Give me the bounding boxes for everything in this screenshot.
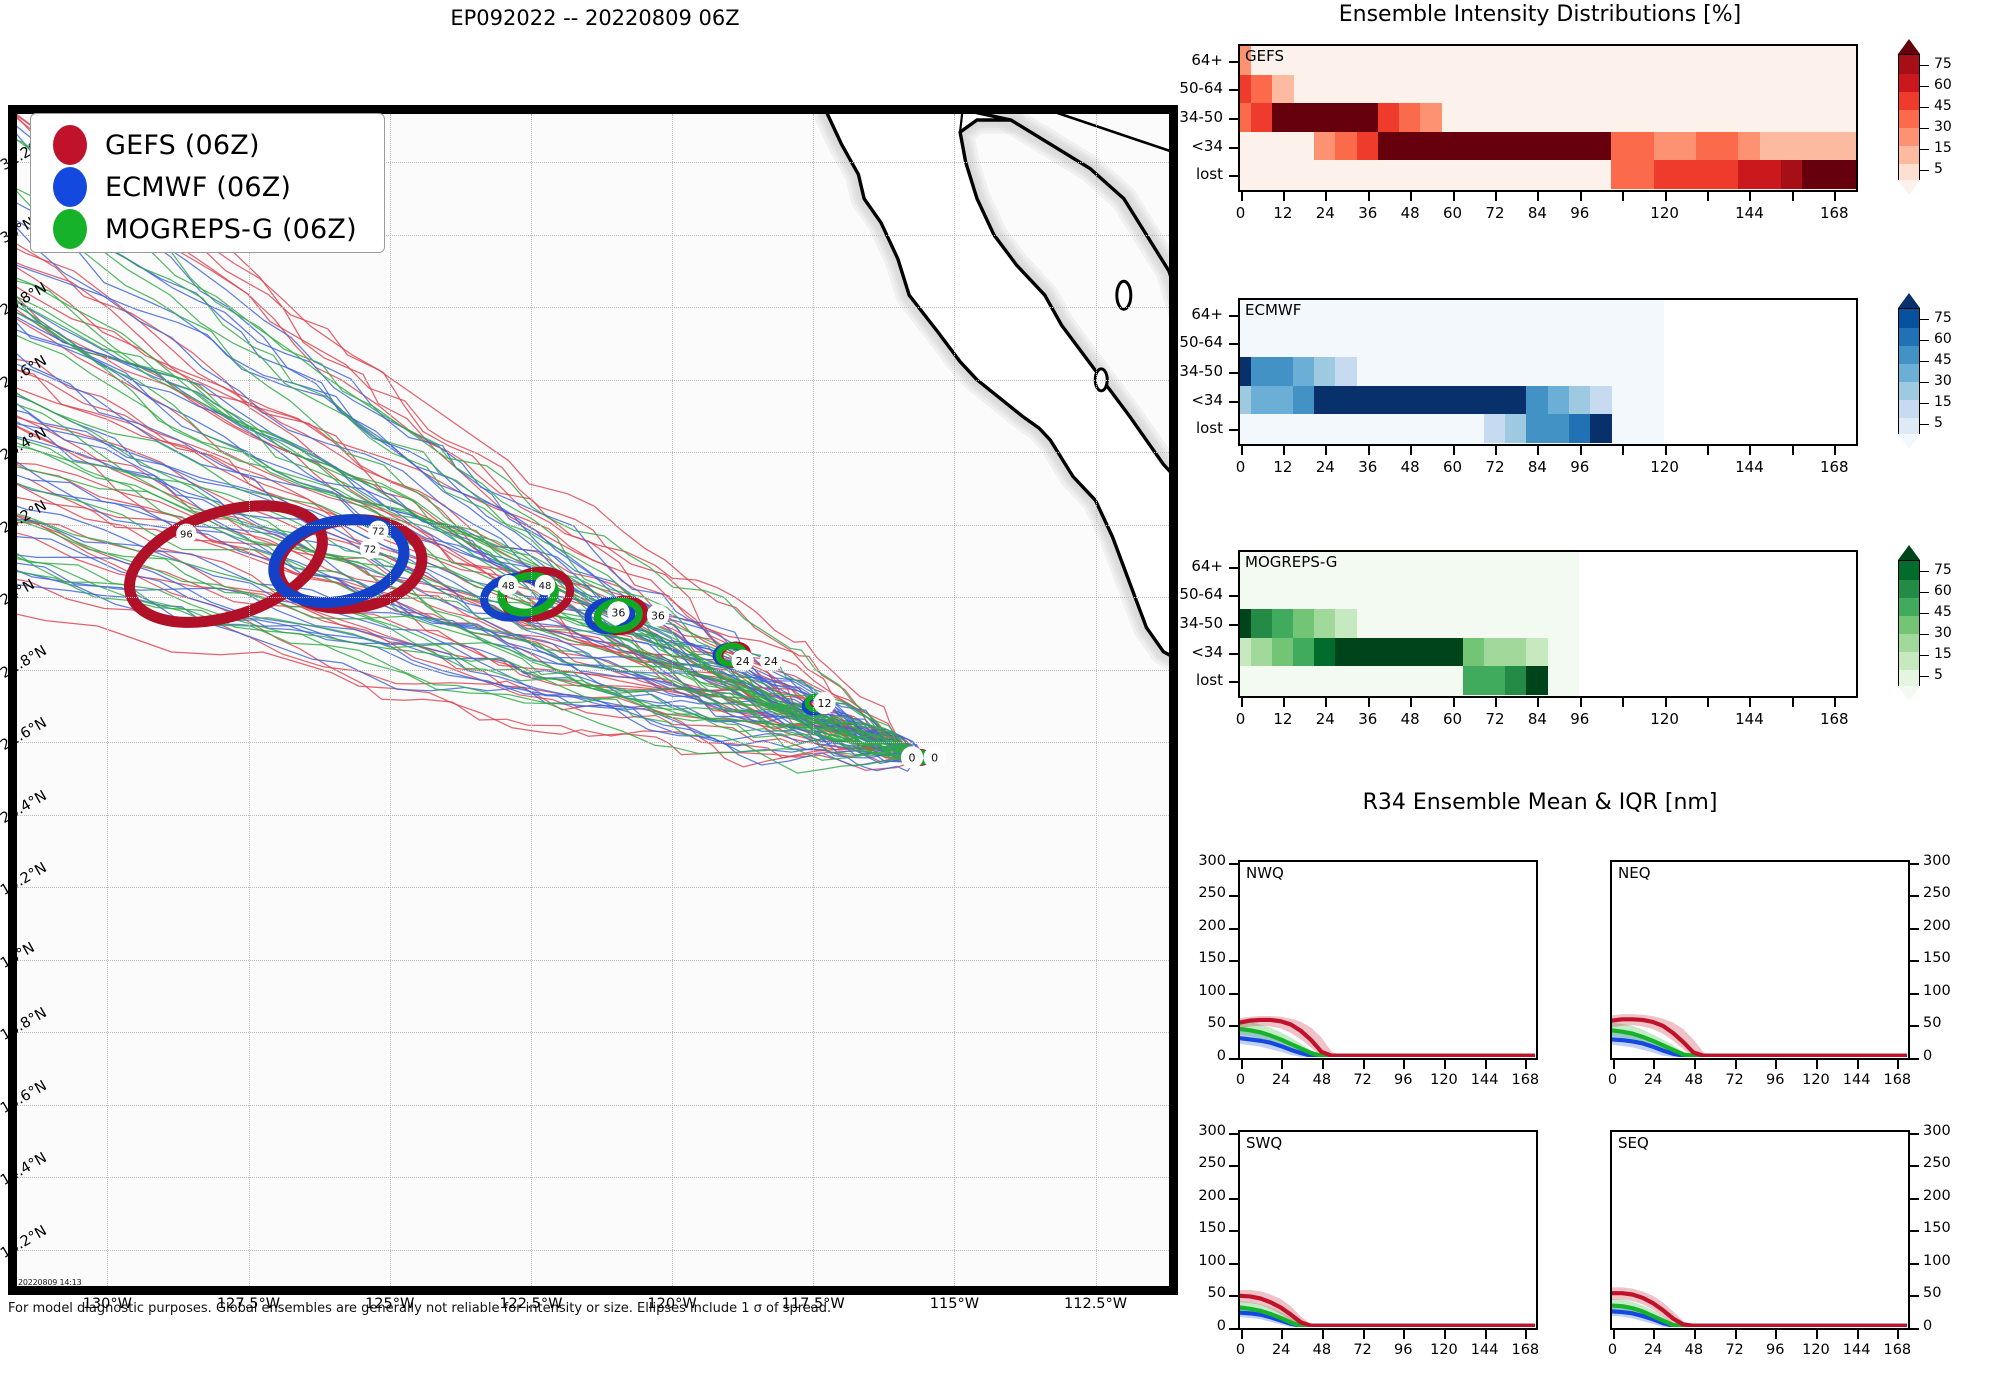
- r34-y-label: 50: [1923, 1285, 1973, 1301]
- r34-y-label: 100: [1923, 983, 1973, 999]
- r34-y-tick: [1229, 1230, 1238, 1232]
- r34-x-tick: [1694, 1060, 1696, 1069]
- heat-cell: [1823, 160, 1845, 189]
- r34-y-label: 0: [1176, 1318, 1226, 1334]
- r34-y-label: 250: [1176, 885, 1226, 901]
- r34-x-tick: [1363, 1060, 1365, 1069]
- graticule-parallel: [17, 960, 1169, 961]
- heat-cell: [1548, 132, 1570, 161]
- colorbar-band: [1899, 127, 1919, 146]
- heat-cell: [1484, 386, 1506, 415]
- x-tick: [1707, 192, 1709, 201]
- x-tick: [1495, 192, 1497, 201]
- heat-cell: [1781, 160, 1803, 189]
- svg-text:0: 0: [909, 751, 916, 764]
- legend-item-ecmwf[interactable]: ECMWF (06Z): [31, 166, 384, 208]
- heat-cell: [1675, 160, 1697, 189]
- heat-cell: [1314, 386, 1336, 415]
- colorbar-band: [1899, 669, 1919, 688]
- y-label: 34-50: [1143, 108, 1223, 126]
- heat-cell: [1251, 357, 1273, 386]
- heatmap-gefs[interactable]: GEFS: [1238, 44, 1858, 192]
- colorbar-tick-label: 5: [1934, 415, 1943, 431]
- x-tick: [1665, 446, 1667, 455]
- heat-cell: [1240, 103, 1251, 132]
- r34-panel-label: SEQ: [1618, 1134, 1649, 1152]
- heat-cell: [1717, 132, 1739, 161]
- y-tick: [1229, 429, 1238, 431]
- r34-y-tick: [1229, 960, 1238, 962]
- x-tick: [1665, 698, 1667, 707]
- r34-y-tick: [1229, 1025, 1238, 1027]
- y-tick: [1229, 147, 1238, 149]
- heat-cell: [1738, 160, 1760, 189]
- graticule-parallel: [17, 307, 1169, 308]
- heat-cell: [1251, 386, 1273, 415]
- r34-y-tick: [1910, 1263, 1919, 1265]
- colorbar-tick-label: 5: [1934, 667, 1943, 683]
- colorbar-band: [1899, 615, 1919, 634]
- heat-cell: [1590, 414, 1612, 443]
- graticule-parallel: [17, 815, 1169, 816]
- r34-x-tick: [1525, 1060, 1527, 1069]
- r34-y-label: 0: [1923, 1318, 1973, 1334]
- legend-item-mogreps[interactable]: MOGREPS-G (06Z): [31, 208, 384, 250]
- r34-panel-neq[interactable]: NEQ: [1610, 860, 1910, 1060]
- r34-x-label: 96: [1381, 1072, 1425, 1088]
- colorbar-band: [1899, 381, 1919, 400]
- x-tick: [1410, 698, 1412, 707]
- heat-cell: [1240, 638, 1251, 667]
- colorbar-tick: [1920, 86, 1929, 88]
- heatmap-ecmwf[interactable]: ECMWF: [1238, 298, 1858, 446]
- colorbar-band: [1899, 651, 1919, 670]
- y-label: lost: [1143, 165, 1223, 183]
- heat-cell: [1240, 609, 1251, 638]
- y-tick: [1229, 372, 1238, 374]
- svg-text:12: 12: [818, 697, 832, 710]
- r34-y-label: 300: [1176, 853, 1226, 869]
- colorbar-tick: [1920, 65, 1929, 67]
- map-svg: 9672724848363624241200: [17, 114, 1169, 1286]
- heat-cell: [1548, 414, 1570, 443]
- r34-x-label: 96: [1753, 1072, 1797, 1088]
- svg-text:36: 36: [651, 609, 665, 622]
- graticule-parallel: [17, 597, 1169, 598]
- r34-y-tick: [1910, 1133, 1919, 1135]
- heat-cell: [1335, 638, 1357, 667]
- colorbar-tick-label: 60: [1934, 331, 1952, 347]
- r34-panel-label: NEQ: [1618, 864, 1651, 882]
- colorbar-band: [1899, 327, 1919, 346]
- legend-label: ECMWF (06Z): [105, 172, 291, 203]
- colorbar-tick-label: 75: [1934, 56, 1952, 72]
- heat-cell: [1844, 132, 1855, 161]
- r34-y-tick: [1910, 1025, 1919, 1027]
- x-tick: [1410, 446, 1412, 455]
- graticule-meridian: [672, 114, 673, 1286]
- graticule-parallel: [17, 1105, 1169, 1106]
- x-tick: [1495, 446, 1497, 455]
- r34-x-tick: [1653, 1060, 1655, 1069]
- r34-plot: [1612, 862, 1907, 1057]
- x-tick: [1580, 192, 1582, 201]
- colorbar-band: [1899, 363, 1919, 382]
- r34-x-label: 72: [1341, 1072, 1385, 1088]
- longitude-label: 125°W: [350, 1296, 430, 1312]
- y-tick: [1229, 118, 1238, 120]
- colorbar-tick: [1920, 149, 1929, 151]
- y-label: 50-64: [1143, 585, 1223, 603]
- r34-y-tick: [1910, 1230, 1919, 1232]
- r34-panel-label: SWQ: [1246, 1134, 1282, 1152]
- heat-cell: [1484, 638, 1506, 667]
- r34-x-label: 96: [1381, 1342, 1425, 1358]
- r34-x-tick: [1281, 1330, 1283, 1339]
- r34-panel-seq[interactable]: SEQ: [1610, 1130, 1910, 1330]
- y-tick: [1229, 595, 1238, 597]
- ecmwf-color-dot: [53, 167, 87, 207]
- y-tick: [1229, 624, 1238, 626]
- heat-cell: [1399, 638, 1421, 667]
- colorbar-body: [1898, 308, 1920, 434]
- x-tick: [1834, 446, 1836, 455]
- y-tick: [1229, 89, 1238, 91]
- colorbar-tick: [1920, 634, 1929, 636]
- r34-x-label: 24: [1259, 1072, 1303, 1088]
- r34-y-label: 200: [1923, 918, 1973, 934]
- heat-cell: [1738, 132, 1760, 161]
- colorbar-tick-label: 60: [1934, 77, 1952, 93]
- graticule-parallel: [17, 380, 1169, 381]
- r34-x-tick: [1444, 1330, 1446, 1339]
- longitude-label: 130°W: [67, 1296, 147, 1312]
- x-label: 168: [1809, 458, 1859, 476]
- r34-panel-nwq[interactable]: NWQ: [1238, 860, 1538, 1060]
- heat-cell: [1293, 638, 1315, 667]
- heat-cell: [1420, 132, 1442, 161]
- graticule-parallel: [17, 1250, 1169, 1251]
- y-tick: [1229, 401, 1238, 403]
- heat-cell: [1314, 357, 1336, 386]
- colorbar-tick-label: 45: [1934, 98, 1952, 114]
- colorbar-tick: [1920, 107, 1929, 109]
- heat-cell: [1548, 386, 1570, 415]
- r34-y-tick: [1910, 895, 1919, 897]
- x-tick: [1622, 192, 1624, 201]
- heat-cell: [1378, 103, 1400, 132]
- legend-label: GEFS (06Z): [105, 130, 260, 161]
- heat-cell: [1293, 103, 1315, 132]
- x-tick: [1368, 446, 1370, 455]
- heat-cell: [1378, 638, 1400, 667]
- r34-y-label: 150: [1923, 1220, 1973, 1236]
- x-tick: [1241, 698, 1243, 707]
- r34-plot: [1240, 1132, 1535, 1327]
- r34-y-label: 100: [1176, 983, 1226, 999]
- x-label: 96: [1555, 204, 1605, 222]
- r34-y-tick: [1229, 1263, 1238, 1265]
- gefs-color-dot: [53, 125, 87, 165]
- colorbar-tick: [1920, 592, 1929, 594]
- r34-y-tick: [1229, 1165, 1238, 1167]
- r34-y-tick: [1910, 1295, 1919, 1297]
- heat-cell: [1240, 75, 1251, 104]
- r34-x-tick: [1241, 1060, 1243, 1069]
- x-tick: [1453, 446, 1455, 455]
- svg-text:24: 24: [736, 655, 750, 668]
- colorbar-band: [1899, 597, 1919, 616]
- graticule-parallel: [17, 742, 1169, 743]
- x-tick: [1241, 446, 1243, 455]
- r34-x-label: 48: [1300, 1342, 1344, 1358]
- heat-no-data: [1664, 300, 1856, 444]
- y-tick: [1229, 653, 1238, 655]
- r34-x-label: 144: [1835, 1342, 1879, 1358]
- x-label: 120: [1640, 458, 1690, 476]
- y-tick: [1229, 681, 1238, 683]
- heat-cell: [1760, 132, 1782, 161]
- heat-cell: [1272, 103, 1294, 132]
- colorbar-tick: [1920, 403, 1929, 405]
- r34-x-tick: [1403, 1330, 1405, 1339]
- graticule-meridian: [1096, 114, 1097, 1286]
- heat-cell: [1314, 132, 1336, 161]
- r34-y-label: 50: [1176, 1285, 1226, 1301]
- r34-x-label: 120: [1422, 1072, 1466, 1088]
- heat-cell: [1293, 386, 1315, 415]
- colorbar-tick: [1920, 571, 1929, 573]
- colorbar-band: [1899, 109, 1919, 128]
- r34-x-label: 120: [1422, 1342, 1466, 1358]
- colorbar-tick: [1920, 382, 1929, 384]
- y-label: 34-50: [1143, 614, 1223, 632]
- x-tick: [1537, 446, 1539, 455]
- r34-panel-swq[interactable]: SWQ: [1238, 1130, 1538, 1330]
- colorbar-band: [1899, 55, 1919, 74]
- y-label: <34: [1143, 391, 1223, 409]
- heat-cell: [1505, 132, 1527, 161]
- r34-x-label: 48: [1300, 1072, 1344, 1088]
- panel-label-1: ECMWF: [1245, 301, 1301, 319]
- heat-cell: [1272, 638, 1294, 667]
- heat-cell: [1844, 160, 1855, 189]
- r34-y-label: 250: [1923, 1155, 1973, 1171]
- heat-cell: [1357, 132, 1379, 161]
- y-label: <34: [1143, 643, 1223, 661]
- r34-x-label: 168: [1875, 1072, 1919, 1088]
- r34-y-tick: [1229, 1058, 1238, 1060]
- r34-y-label: 200: [1176, 918, 1226, 934]
- graticule-meridian: [107, 114, 108, 1286]
- r34-x-label: 24: [1631, 1072, 1675, 1088]
- x-tick: [1283, 192, 1285, 201]
- colorbar-body: [1898, 54, 1920, 180]
- heat-cell: [1463, 386, 1485, 415]
- legend-label: MOGREPS-G (06Z): [105, 214, 357, 245]
- r34-x-tick: [1735, 1330, 1737, 1339]
- colorbar-band: [1899, 417, 1919, 436]
- colorbar-band: [1899, 633, 1919, 652]
- colorbar-tick-label: 30: [1934, 119, 1952, 135]
- r34-x-tick: [1444, 1060, 1446, 1069]
- longitude-label: 122.5°W: [491, 1296, 571, 1312]
- r34-title: R34 Ensemble Mean & IQR [nm]: [1190, 790, 1890, 815]
- heat-cell: [1717, 160, 1739, 189]
- colorbar-tick-label: 15: [1934, 140, 1952, 156]
- x-tick: [1325, 698, 1327, 707]
- colorbar-tick-label: 30: [1934, 373, 1952, 389]
- heat-cell: [1632, 160, 1654, 189]
- heat-cell: [1484, 666, 1506, 695]
- heat-cell: [1251, 609, 1273, 638]
- colorbar-band: [1899, 579, 1919, 598]
- r34-plot: [1612, 1132, 1907, 1327]
- r34-x-tick: [1241, 1330, 1243, 1339]
- heat-cell: [1399, 132, 1421, 161]
- x-tick: [1792, 192, 1794, 201]
- graticule-parallel: [17, 887, 1169, 888]
- heat-cell: [1335, 386, 1357, 415]
- y-tick: [1229, 61, 1238, 63]
- r34-y-label: 300: [1176, 1123, 1226, 1139]
- x-tick: [1410, 192, 1412, 201]
- heat-cell: [1505, 386, 1527, 415]
- r34-y-tick: [1910, 928, 1919, 930]
- y-label: <34: [1143, 137, 1223, 155]
- y-label: lost: [1143, 671, 1223, 689]
- r34-x-label: 24: [1631, 1342, 1675, 1358]
- longitude-label: 112.5°W: [1056, 1296, 1136, 1312]
- x-label: 168: [1809, 710, 1859, 728]
- colorbar-band: [1899, 561, 1919, 580]
- heat-cell: [1526, 638, 1548, 667]
- x-tick: [1622, 446, 1624, 455]
- colorbar-0: 75604530155: [1898, 54, 2000, 180]
- legend-item-gefs[interactable]: GEFS (06Z): [31, 124, 384, 166]
- heat-cell: [1654, 132, 1676, 161]
- heat-cell: [1272, 386, 1294, 415]
- colorbar-1: 75604530155: [1898, 308, 2000, 434]
- map-legend: GEFS (06Z) ECMWF (06Z) MOGREPS-G (06Z): [30, 113, 385, 253]
- r34-x-tick: [1322, 1060, 1324, 1069]
- heat-cell: [1505, 666, 1527, 695]
- heat-cell: [1463, 666, 1485, 695]
- y-label: 50-64: [1143, 79, 1223, 97]
- track-map[interactable]: 9672724848363624241200: [8, 105, 1178, 1295]
- heat-cell: [1802, 160, 1824, 189]
- r34-x-tick: [1857, 1060, 1859, 1069]
- x-label: 120: [1640, 710, 1690, 728]
- longitude-label: 117.5°W: [773, 1296, 853, 1312]
- timestamp-stamp: 20220809 14:13: [18, 1278, 82, 1287]
- r34-x-tick: [1525, 1330, 1527, 1339]
- colorbar-tick: [1920, 613, 1929, 615]
- r34-x-tick: [1816, 1330, 1818, 1339]
- heat-cell: [1781, 132, 1803, 161]
- r34-plot: [1240, 862, 1535, 1057]
- graticule-parallel: [17, 670, 1169, 671]
- colorbar-tick: [1920, 170, 1929, 172]
- colorbar-band: [1899, 399, 1919, 418]
- r34-x-tick: [1485, 1060, 1487, 1069]
- heatmap-mogrepsg[interactable]: MOGREPS-G: [1238, 550, 1858, 698]
- heat-cell: [1590, 132, 1612, 161]
- y-label: 34-50: [1143, 362, 1223, 380]
- mogreps-color-dot: [53, 209, 87, 249]
- heat-cell: [1272, 609, 1294, 638]
- r34-x-label: 120: [1794, 1342, 1838, 1358]
- heat-cell: [1823, 132, 1845, 161]
- heat-cell: [1526, 414, 1548, 443]
- heat-cell: [1293, 609, 1315, 638]
- r34-y-tick: [1229, 993, 1238, 995]
- y-tick: [1229, 567, 1238, 569]
- heat-cell: [1441, 638, 1463, 667]
- longitude-label: 127.5°W: [209, 1296, 289, 1312]
- heat-cell: [1293, 357, 1315, 386]
- colorbar-tick-label: 15: [1934, 646, 1952, 662]
- r34-y-label: 0: [1923, 1048, 1973, 1064]
- r34-y-label: 50: [1923, 1015, 1973, 1031]
- y-label: 64+: [1143, 305, 1223, 323]
- x-tick: [1453, 192, 1455, 201]
- r34-x-label: 0: [1591, 1342, 1635, 1358]
- r34-y-label: 300: [1923, 853, 1973, 869]
- x-tick: [1749, 698, 1751, 707]
- y-tick: [1229, 315, 1238, 317]
- r34-y-tick: [1229, 1198, 1238, 1200]
- r34-y-tick: [1910, 1165, 1919, 1167]
- colorbar-tick: [1920, 340, 1929, 342]
- colorbar-band: [1899, 145, 1919, 164]
- r34-y-tick: [1229, 1328, 1238, 1330]
- x-tick: [1537, 698, 1539, 707]
- heat-cell: [1314, 638, 1336, 667]
- colorbar-tick: [1920, 655, 1929, 657]
- colorbar-arrow-down: [1898, 434, 1920, 449]
- x-label: 144: [1724, 710, 1774, 728]
- r34-x-label: 96: [1753, 1342, 1797, 1358]
- colorbar-tick: [1920, 676, 1929, 678]
- heat-cell: [1240, 386, 1251, 415]
- x-tick: [1792, 446, 1794, 455]
- r34-x-tick: [1363, 1330, 1365, 1339]
- colorbar-tick-label: 60: [1934, 583, 1952, 599]
- heat-cell: [1505, 638, 1527, 667]
- r34-x-label: 72: [1713, 1342, 1757, 1358]
- r34-x-tick: [1322, 1330, 1324, 1339]
- heat-cell: [1802, 132, 1824, 161]
- heat-cell: [1357, 103, 1379, 132]
- colorbar-tick: [1920, 361, 1929, 363]
- x-tick: [1325, 192, 1327, 201]
- graticule-meridian: [813, 114, 814, 1286]
- intensity-title: Ensemble Intensity Distributions [%]: [1190, 2, 1890, 27]
- panel-label-2: MOGREPS-G: [1245, 553, 1337, 571]
- heat-cell: [1399, 386, 1421, 415]
- graticule-meridian: [390, 114, 391, 1286]
- r34-y-label: 250: [1923, 885, 1973, 901]
- x-tick: [1241, 192, 1243, 201]
- heat-cell: [1484, 414, 1506, 443]
- r34-x-label: 144: [1463, 1072, 1507, 1088]
- r34-x-tick: [1897, 1060, 1899, 1069]
- heat-cell: [1632, 132, 1654, 161]
- heat-cell: [1272, 357, 1294, 386]
- r34-x-label: 72: [1341, 1342, 1385, 1358]
- r34-y-label: 50: [1176, 1015, 1226, 1031]
